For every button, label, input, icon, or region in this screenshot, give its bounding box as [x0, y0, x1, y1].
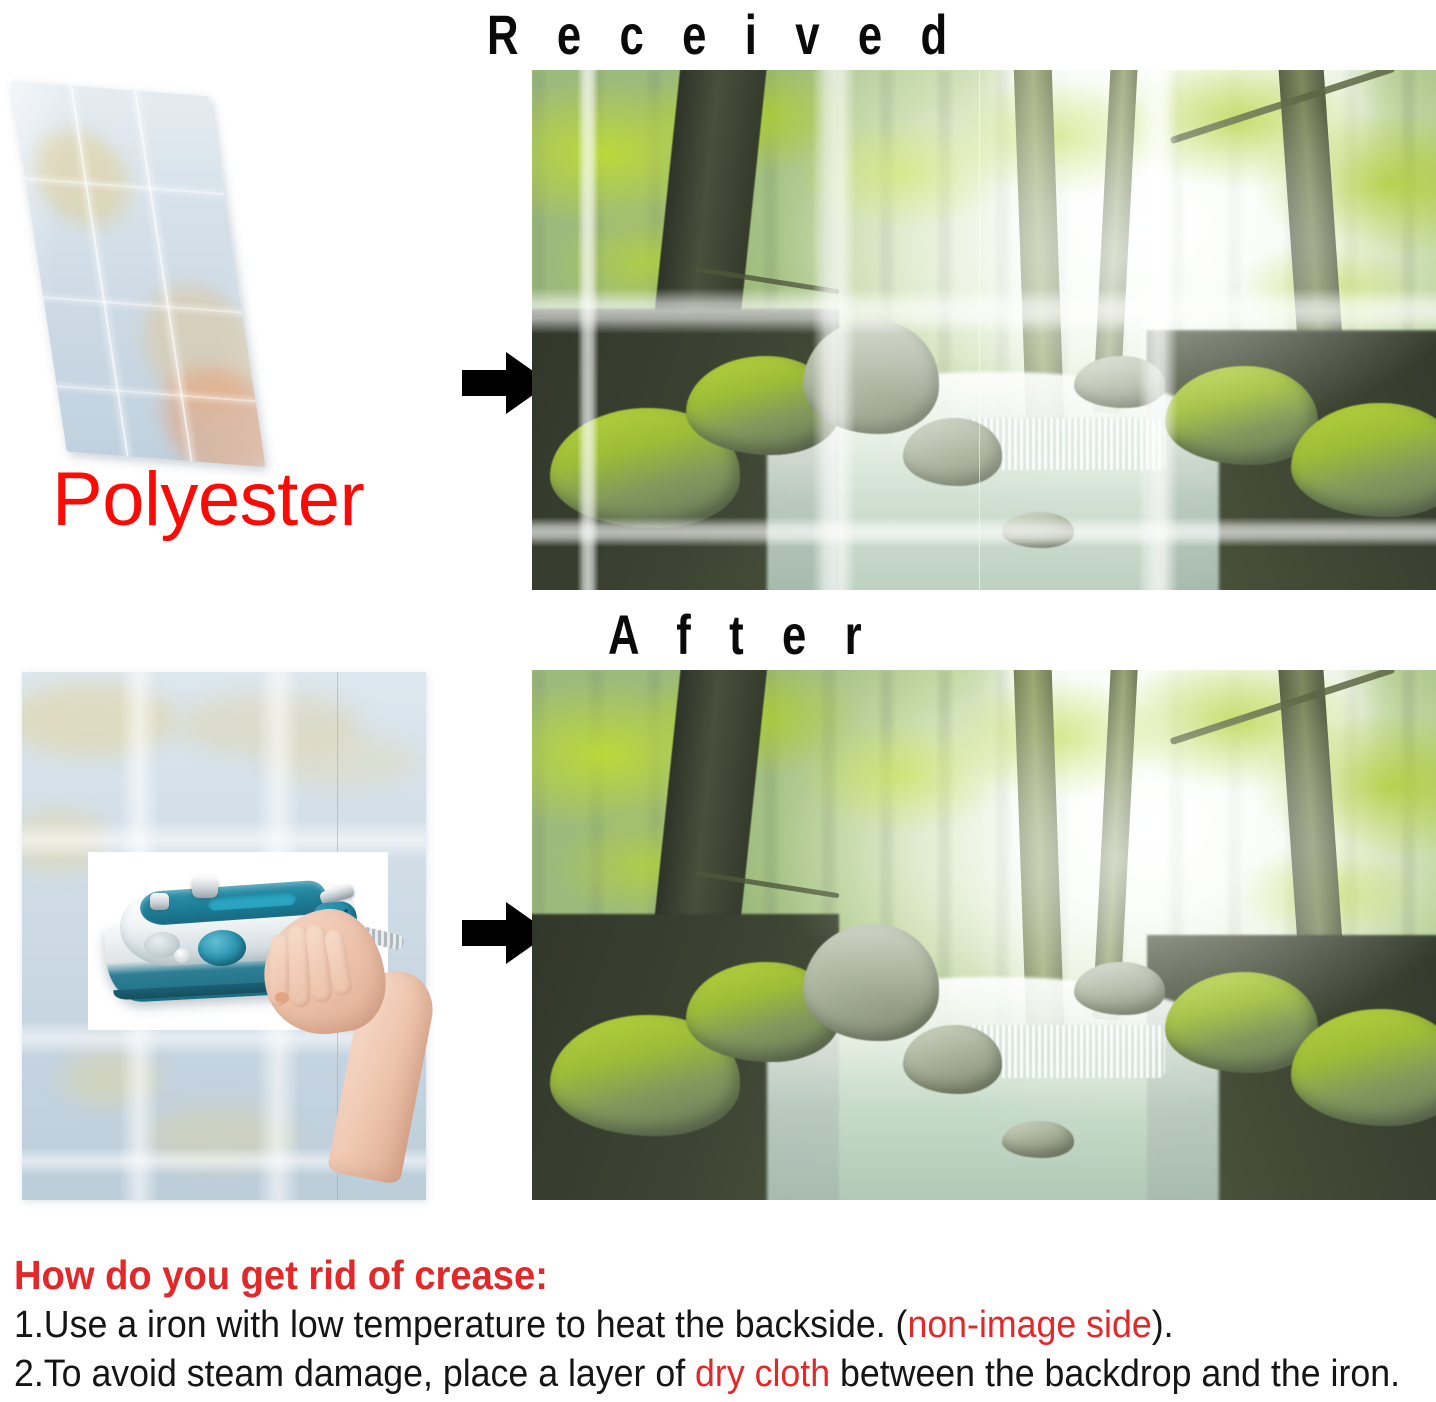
folded-fabric-image [22, 82, 422, 482]
mossy-boulder [803, 320, 939, 434]
iron-steam-knob [192, 876, 218, 898]
mossy-boulder [903, 1025, 1002, 1094]
section-title-received: R e c e i v e d [487, 2, 960, 67]
instruction-1-suffix: ). [1152, 1304, 1174, 1346]
fabric-sheet [10, 81, 265, 467]
instruction-line-2: 2.To avoid steam damage, place a layer o… [14, 1352, 1341, 1397]
forest-stream-scene [532, 670, 1436, 1200]
mossy-boulder [1074, 356, 1164, 408]
after-backdrop-photo [532, 670, 1436, 1200]
mossy-boulder [1074, 962, 1164, 1015]
instruction-2-suffix: between the backdrop and the iron. [830, 1353, 1400, 1395]
mossy-boulder [1002, 512, 1074, 548]
received-backdrop-photo [532, 70, 1436, 590]
mossy-boulder [903, 418, 1002, 486]
instruction-2-prefix: 2.To avoid steam damage, place a layer o… [14, 1353, 695, 1395]
instruction-line-1: 1.Use a iron with low temperature to hea… [14, 1303, 1341, 1348]
mossy-boulder [803, 924, 939, 1041]
polyester-label: Polyester [52, 462, 364, 538]
instruction-1-highlight: non-image side [907, 1304, 1151, 1346]
forest-stream-scene [532, 70, 1436, 590]
iron-burst-button [150, 893, 169, 910]
instruction-2-highlight: dry cloth [695, 1353, 830, 1395]
section-title-after: A f t e r [608, 602, 875, 667]
care-instructions: How do you get rid of crease: 1.Use a ir… [14, 1252, 1426, 1397]
iron-demo-card [88, 852, 388, 1030]
mossy-boulder [1002, 1121, 1074, 1158]
infographic-page: R e c e i v e d Polyester [0, 0, 1436, 1402]
instruction-1-prefix: 1.Use a iron with low temperature to hea… [14, 1304, 907, 1346]
instructions-heading: How do you get rid of crease: [14, 1252, 1327, 1299]
iron-spray-button [174, 948, 191, 963]
